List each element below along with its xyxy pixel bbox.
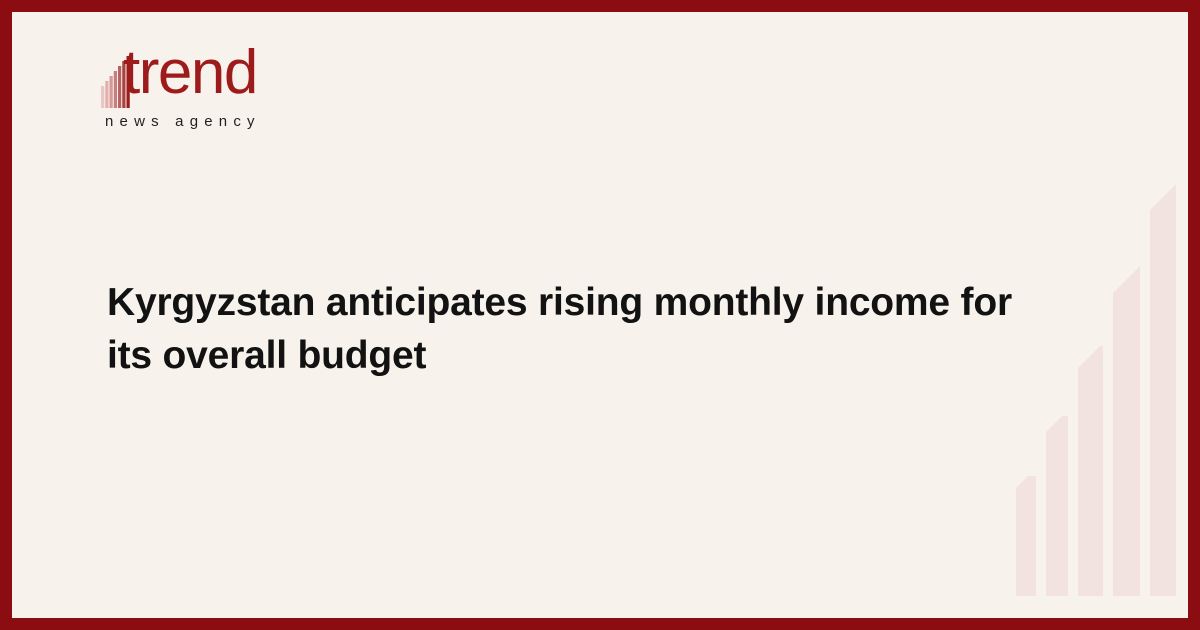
- decor-bar-1: [1016, 476, 1036, 596]
- logo-mark-bar-5: [118, 66, 121, 108]
- decor-bar-4: [1113, 266, 1140, 596]
- headline-text: Kyrgyzstan anticipates rising monthly in…: [107, 277, 1057, 382]
- card-content-area: trend news agency Kyrgyzstan anticipates…: [12, 12, 1188, 618]
- decor-bar-5: [1150, 184, 1176, 596]
- social-share-card: trend news agency Kyrgyzstan anticipates…: [0, 0, 1200, 630]
- decor-bars-group: [1016, 184, 1176, 596]
- logo-wordmark: trend: [123, 42, 257, 104]
- logo-subtitle: news agency: [105, 113, 261, 130]
- decor-bar-2: [1046, 416, 1068, 596]
- logo-mark-bar-3: [110, 76, 113, 108]
- logo-mark-bar-4: [114, 71, 117, 108]
- decor-bar-3: [1078, 346, 1103, 596]
- logo-mark-bar-1: [101, 86, 104, 108]
- logo-mark-bar-2: [105, 81, 108, 108]
- trend-news-agency-logo[interactable]: trend news agency: [101, 46, 301, 146]
